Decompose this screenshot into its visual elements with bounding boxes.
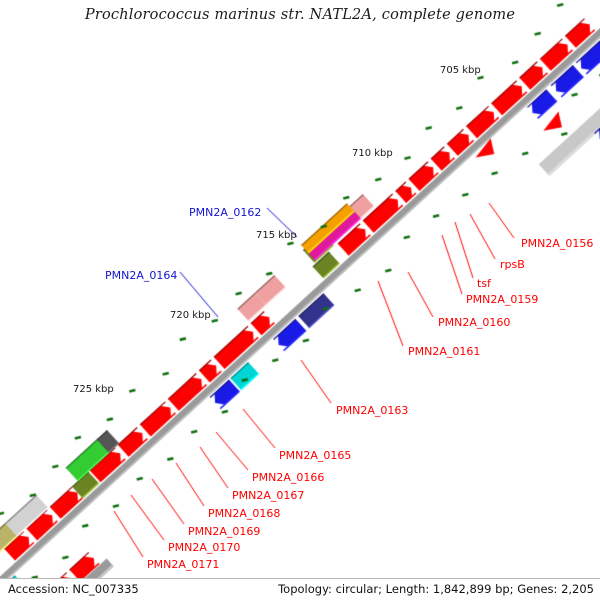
gene-label-pmn2a_0160[interactable]: PMN2A_0160	[438, 316, 510, 329]
gene-label-pmn2a_0166[interactable]: PMN2A_0166	[252, 471, 324, 484]
status-bar: Accession: NC_007335 Topology: circular;…	[0, 578, 600, 600]
gene-label-rpsb[interactable]: rpsB	[500, 258, 525, 271]
gene-label-pmn2a_0156[interactable]: PMN2A_0156	[521, 237, 593, 250]
gene-label-pmn2a_0170[interactable]: PMN2A_0170	[168, 541, 240, 554]
gene-label-pmn2a_0159[interactable]: PMN2A_0159	[466, 293, 538, 306]
gene-label-pmn2a_0161[interactable]: PMN2A_0161	[408, 345, 480, 358]
ruler-tick-label: 710 kbp	[352, 148, 393, 159]
ruler-tick-label: 715 kbp	[256, 230, 297, 241]
ruler-tick-label: 720 kbp	[170, 310, 211, 321]
gene-label-pmn2a_0171[interactable]: PMN2A_0171	[147, 558, 219, 571]
accession-text: Accession: NC_007335	[8, 582, 139, 596]
gene-label-pmn2a_0162[interactable]: PMN2A_0162	[189, 206, 261, 219]
gene-label-pmn2a_0164[interactable]: PMN2A_0164	[105, 269, 177, 282]
ruler-tick-label: 725 kbp	[73, 384, 114, 395]
gene-label-pmn2a_0163[interactable]: PMN2A_0163	[336, 404, 408, 417]
genome-browser-window: Prochlorococcus marinus str. NATL2A, com…	[0, 0, 600, 600]
genome-summary-text: Topology: circular; Length: 1,842,899 bp…	[278, 582, 594, 596]
gene-label-pmn2a_0169[interactable]: PMN2A_0169	[188, 525, 260, 538]
gene-label-pmn2a_0168[interactable]: PMN2A_0168	[208, 507, 280, 520]
gene-label-tsf[interactable]: tsf	[477, 277, 491, 290]
gene-label-pmn2a_0167[interactable]: PMN2A_0167	[232, 489, 304, 502]
ruler-tick-label: 705 kbp	[440, 65, 481, 76]
gene-label-pmn2a_0165[interactable]: PMN2A_0165	[279, 449, 351, 462]
